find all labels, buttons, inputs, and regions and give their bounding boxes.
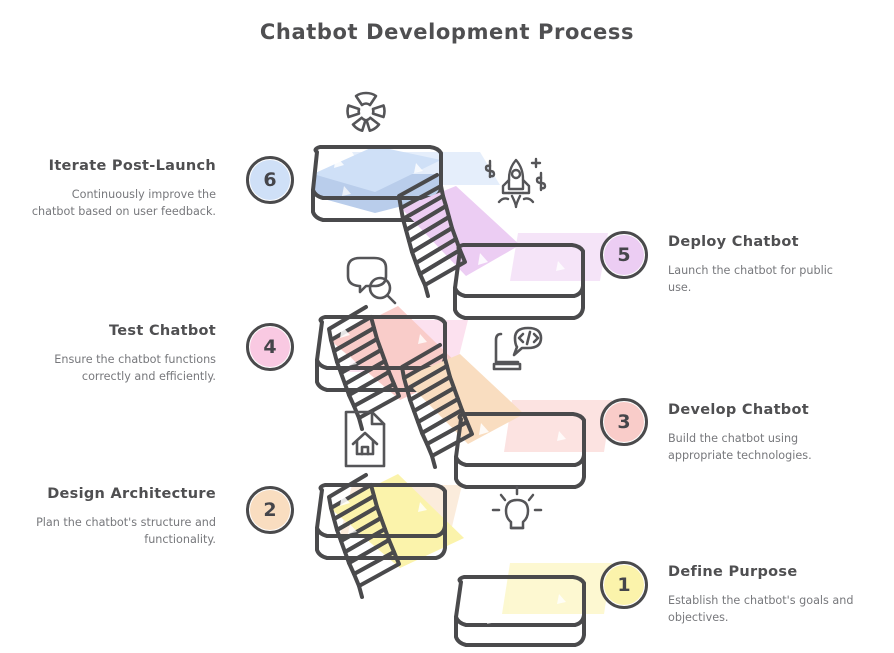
step-1-description: Establish the chatbot's goals and object… [668,592,858,627]
step-badge-6[interactable]: 6 [246,156,294,204]
step-6-description: Continuously improve the chatbot based o… [26,186,216,221]
step-6-title: Iterate Post-Launch [26,157,216,177]
step-badge-4-number: 4 [263,338,276,357]
step-2-description: Plan the chatbot's structure and functio… [26,514,216,549]
step-4-description: Ensure the chatbot functions correctly a… [26,351,216,386]
step-badge-5-number: 5 [617,246,630,265]
chat-search-icon [340,252,404,306]
step-1-title: Define Purpose [668,563,858,583]
step-badge-3-number: 3 [617,413,630,432]
rocket-money-icon [479,150,553,222]
step-badge-3[interactable]: 3 [600,398,648,446]
step-badge-1[interactable]: 1 [600,561,648,609]
step-2-title: Design Architecture [26,485,216,505]
lightbulb-icon [487,482,547,542]
step-badge-1-number: 1 [617,576,630,595]
step-block-5: Deploy Chatbot Launch the chatbot for pu… [668,233,858,296]
step-5-description: Launch the chatbot for public use. [668,262,858,297]
step-5-title: Deploy Chatbot [668,233,858,253]
step-badge-5[interactable]: 5 [600,231,648,279]
step-4-title: Test Chatbot [26,322,216,342]
code-bubble-icon [487,322,549,384]
step-badge-2[interactable]: 2 [246,486,294,534]
step-block-6: Iterate Post-Launch Continuously improve… [26,157,216,220]
step-block-4: Test Chatbot Ensure the chatbot function… [26,322,216,385]
infographic-canvas: Chatbot Development Process .ol { stroke… [0,0,894,653]
step-block-2: Design Architecture Plan the chatbot's s… [26,485,216,548]
step-block-3: Develop Chatbot Build the chatbot using … [668,401,858,464]
step-3-title: Develop Chatbot [668,401,858,421]
step-badge-6-number: 6 [263,171,276,190]
blueprint-document-icon [338,408,396,470]
step-block-1: Define Purpose Establish the chatbot's g… [668,563,858,626]
step-badge-4[interactable]: 4 [246,323,294,371]
step-3-description: Build the chatbot using appropriate tech… [668,430,858,465]
cycle-loop-icon [338,86,394,142]
step-badge-2-number: 2 [263,501,276,520]
